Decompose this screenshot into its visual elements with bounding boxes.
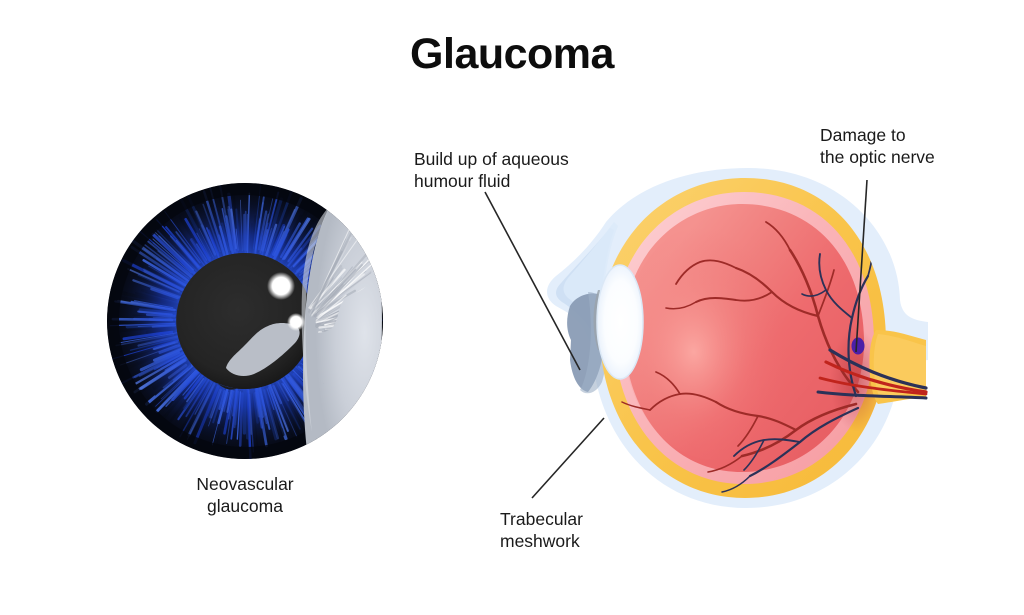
label-damage-to-the-optic-nerve: Damage to the optic nerve: [820, 124, 1000, 169]
label-trabecular-meshwork: Trabecular meshwork: [500, 508, 670, 553]
leader-line-aqueous: [485, 192, 580, 370]
glaucoma-illustration: Glaucoma: [0, 0, 1024, 615]
leader-line-trabecular: [532, 418, 604, 498]
label-build-up-of-aqueous-humour-fluid: Build up of aqueous humour fluid: [414, 148, 614, 193]
leader-line-damage: [856, 180, 867, 352]
